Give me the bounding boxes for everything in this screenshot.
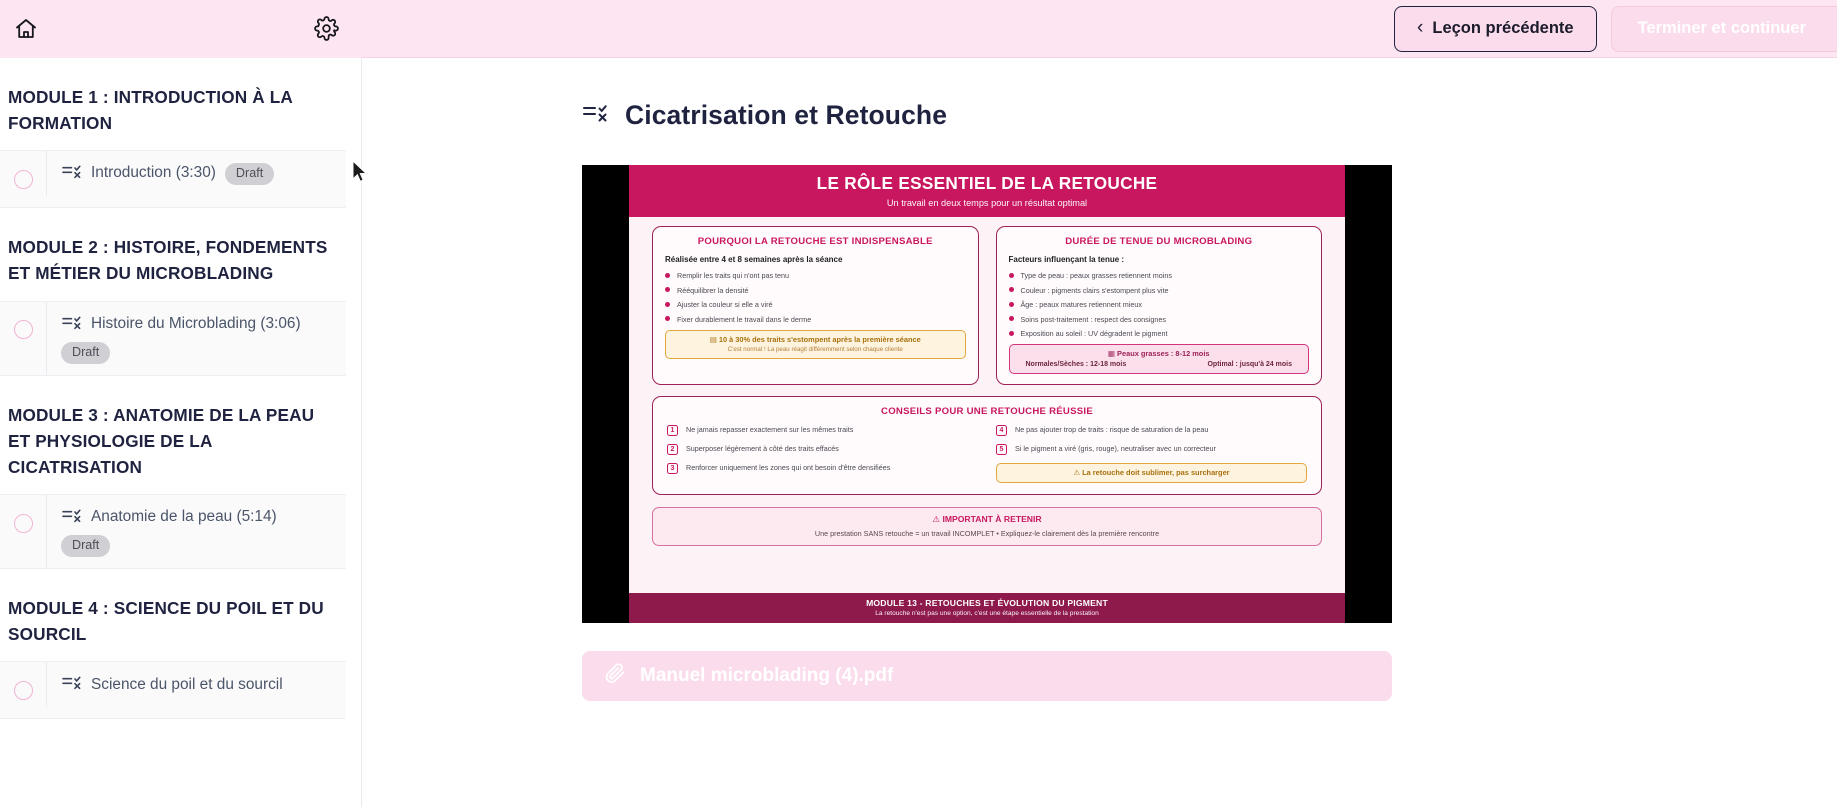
complete-and-continue-label: Terminer et continuer	[1638, 19, 1806, 38]
callout-fade-stat-line1: 10 à 30% des traits s'estompent après la…	[719, 335, 921, 344]
lesson-list-icon	[61, 507, 82, 529]
curriculum-sidebar: MODULE 1 : INTRODUCTION À LA FORMATIONIn…	[0, 58, 362, 807]
top-bar-left	[0, 0, 362, 58]
module-title: MODULE 2 : HISTOIRE, FONDEMENTS ET MÉTIE…	[0, 208, 346, 300]
circle-icon	[14, 681, 33, 700]
tip-item: 2Superposer légèrement à côté des traits…	[667, 444, 978, 455]
module-title: MODULE 1 : INTRODUCTION À LA FORMATION	[0, 58, 346, 150]
tip-number: 3	[667, 463, 678, 474]
callout-duration: ▦ Peaux grasses : 8-12 mois Normales/Sèc…	[1009, 344, 1310, 374]
card-duration-bullets: Type de peau : peaux grasses retiennent …	[1009, 271, 1310, 338]
tip-number: 2	[667, 444, 678, 455]
card-duration-subtitle: Facteurs influençant la tenue :	[1009, 255, 1310, 264]
tips-column-right: 4Ne pas ajouter trop de traits : risque …	[996, 425, 1307, 483]
circle-icon	[14, 514, 33, 533]
infographic-footer-line2: La retouche n'est pas une option, c'est …	[633, 610, 1341, 617]
callout-important-title: ⚠ IMPORTANT À RETENIR	[661, 514, 1313, 525]
callout-fade-stat-line2: C'est normal ! La peau réagit différemme…	[672, 346, 959, 353]
callout-tips-highlight-text: ⚠ La retouche doit sublimer, pas surchar…	[1003, 468, 1300, 477]
lesson-body: Science du poil et du sourcil	[46, 662, 346, 707]
tip-text: Superposer légèrement à côté des traits …	[686, 444, 839, 453]
previous-lesson-button[interactable]: ‹ Leçon précédente	[1394, 6, 1597, 52]
infographic-columns: POURQUOI LA RETOUCHE EST INDISPENSABLE R…	[652, 226, 1322, 385]
bullet-dot-icon	[1009, 302, 1014, 307]
callout-fade-stat: ▤ 10 à 30% des traits s'estompent après …	[665, 330, 966, 359]
bullet-item: Âge : peaux matures retiennent mieux	[1009, 300, 1310, 309]
tips-column-left: 1Ne jamais repasser exactement sur les m…	[667, 425, 978, 483]
tip-text: Si le pigment a viré (gris, rouge), neut…	[1015, 444, 1216, 453]
lesson-complete-toggle[interactable]	[0, 495, 46, 551]
tip-text: Ne jamais repasser exactement sur les mê…	[686, 425, 853, 434]
curriculum-list: MODULE 1 : INTRODUCTION À LA FORMATIONIn…	[0, 58, 346, 719]
infographic-header: LE RÔLE ESSENTIEL DE LA RETOUCHE Un trav…	[629, 165, 1345, 217]
lesson-label: Science du poil et du sourcil	[91, 675, 283, 696]
card-why-retouch-bullets: Remplir les traits qui n'ont pas tenuRéé…	[665, 271, 966, 324]
tip-text: Renforcer uniquement les zones qui ont b…	[686, 463, 890, 472]
infographic-title: LE RÔLE ESSENTIEL DE LA RETOUCHE	[633, 173, 1341, 194]
tip-item: 4Ne pas ajouter trop de traits : risque …	[996, 425, 1307, 436]
callout-important: ⚠ IMPORTANT À RETENIR Une prestation SAN…	[652, 507, 1322, 546]
attachment-label: Manuel microblading (4).pdf	[640, 665, 893, 687]
bullet-item: Couleur : pigments clairs s'estompent pl…	[1009, 286, 1310, 295]
chevron-left-icon: ‹	[1417, 18, 1423, 37]
lesson-header: Cicatrisation et Retouche	[363, 58, 1837, 131]
lesson-item[interactable]: Anatomie de la peau (5:14)Draft	[0, 494, 346, 569]
callout-tips-highlight: ⚠ La retouche doit sublimer, pas surchar…	[996, 463, 1307, 483]
bullet-dot-icon	[665, 302, 670, 307]
lesson-body: Anatomie de la peau (5:14)Draft	[46, 495, 346, 568]
lesson-video-player[interactable]: LE RÔLE ESSENTIEL DE LA RETOUCHE Un trav…	[582, 165, 1392, 623]
calendar-icon: ▦	[1108, 349, 1115, 358]
lesson-item[interactable]: Histoire du Microblading (3:06)Draft	[0, 301, 346, 376]
card-tips: CONSEILS POUR UNE RETOUCHE RÉUSSIE 1Ne j…	[652, 396, 1322, 495]
callout-duration-right: Optimal : jusqu'à 24 mois	[1207, 361, 1292, 368]
lesson-label: Histoire du Microblading (3:06)	[91, 314, 301, 335]
card-duration-title: DURÉE DE TENUE DU MICROBLADING	[1009, 236, 1310, 247]
settings-button[interactable]	[306, 9, 346, 49]
infographic-body: POURQUOI LA RETOUCHE EST INDISPENSABLE R…	[629, 217, 1345, 593]
stats-icon: ▤	[710, 335, 717, 344]
bullet-item: Ajuster la couleur si elle a viré	[665, 300, 966, 309]
lesson-complete-toggle[interactable]	[0, 662, 46, 718]
lesson-complete-toggle[interactable]	[0, 302, 46, 358]
paperclip-icon	[604, 662, 626, 690]
lesson-list-icon	[582, 102, 608, 129]
tips-grid: 1Ne jamais repasser exactement sur les m…	[667, 425, 1307, 483]
infographic-subtitle: Un travail en deux temps pour un résulta…	[633, 198, 1341, 208]
gear-icon	[314, 16, 339, 41]
status-badge: Draft	[61, 342, 110, 364]
tip-number: 4	[996, 425, 1007, 436]
callout-duration-line1: Peaux grasses : 8-12 mois	[1117, 349, 1209, 358]
lesson-label: Introduction (3:30)	[91, 163, 216, 184]
tip-item: 1Ne jamais repasser exactement sur les m…	[667, 425, 978, 436]
tip-number: 1	[667, 425, 678, 436]
bullet-item: Soins post-traitement : respect des cons…	[1009, 315, 1310, 324]
mouse-cursor	[352, 160, 368, 189]
module-title: MODULE 3 : ANATOMIE DE LA PEAU ET PHYSIO…	[0, 376, 346, 494]
bullet-dot-icon	[665, 273, 670, 278]
lesson-label: Anatomie de la peau (5:14)	[91, 507, 277, 528]
callout-duration-left: Normales/Sèches : 12-18 mois	[1026, 361, 1127, 368]
lesson-main-panel: Cicatrisation et Retouche LE RÔLE ESSENT…	[363, 58, 1837, 807]
lesson-item[interactable]: Science du poil et du sourcil	[0, 661, 346, 719]
card-tips-title: CONSEILS POUR UNE RETOUCHE RÉUSSIE	[667, 406, 1307, 417]
bullet-dot-icon	[1009, 287, 1014, 292]
bullet-item: Rééquilibrer la densité	[665, 286, 966, 295]
infographic: LE RÔLE ESSENTIEL DE LA RETOUCHE Un trav…	[629, 165, 1345, 623]
bullet-dot-icon	[1009, 273, 1014, 278]
callout-important-text: Une prestation SANS retouche = un travai…	[661, 529, 1313, 538]
bullet-dot-icon	[1009, 331, 1014, 336]
lesson-body: Introduction (3:30)Draft	[46, 151, 346, 196]
card-why-retouch: POURQUOI LA RETOUCHE EST INDISPENSABLE R…	[652, 226, 979, 385]
status-badge: Draft	[225, 163, 274, 185]
infographic-footer: MODULE 13 - RETOUCHES ET ÉVOLUTION DU PI…	[629, 593, 1345, 623]
tip-item: 5Si le pigment a viré (gris, rouge), neu…	[996, 444, 1307, 455]
bullet-item: Exposition au soleil : UV dégradent le p…	[1009, 329, 1310, 338]
bullet-item: Remplir les traits qui n'ont pas tenu	[665, 271, 966, 280]
home-icon	[14, 17, 38, 41]
bullet-item: Type de peau : peaux grasses retiennent …	[1009, 271, 1310, 280]
bullet-dot-icon	[1009, 316, 1014, 321]
page-title: Cicatrisation et Retouche	[625, 100, 947, 131]
top-bar: ‹ Leçon précédente Terminer et continuer	[0, 0, 1837, 58]
previous-lesson-label: Leçon précédente	[1432, 19, 1573, 38]
lesson-list-icon	[61, 674, 82, 696]
bullet-item: Fixer durablement le travail dans le der…	[665, 315, 966, 324]
lesson-list-icon	[61, 163, 82, 185]
card-why-retouch-title: POURQUOI LA RETOUCHE EST INDISPENSABLE	[665, 236, 966, 247]
circle-icon	[14, 320, 33, 339]
complete-and-continue-button[interactable]: Terminer et continuer	[1611, 6, 1837, 52]
lesson-complete-toggle[interactable]	[0, 151, 46, 207]
lesson-item[interactable]: Introduction (3:30)Draft	[0, 150, 346, 208]
tip-item: 3Renforcer uniquement les zones qui ont …	[667, 463, 978, 474]
bullet-dot-icon	[665, 316, 670, 321]
home-button[interactable]	[6, 9, 46, 49]
status-badge: Draft	[61, 535, 110, 557]
lesson-body: Histoire du Microblading (3:06)Draft	[46, 302, 346, 375]
card-why-retouch-subtitle: Réalisée entre 4 et 8 semaines après la …	[665, 255, 966, 264]
infographic-footer-line1: MODULE 13 - RETOUCHES ET ÉVOLUTION DU PI…	[633, 598, 1341, 608]
lesson-list-icon	[61, 314, 82, 336]
module-title: MODULE 4 : SCIENCE DU POIL ET DU SOURCIL	[0, 569, 346, 661]
bullet-dot-icon	[665, 287, 670, 292]
circle-icon	[14, 170, 33, 189]
attachment-link[interactable]: Manuel microblading (4).pdf	[582, 651, 1392, 701]
card-duration: DURÉE DE TENUE DU MICROBLADING Facteurs …	[996, 226, 1323, 385]
tip-text: Ne pas ajouter trop de traits : risque d…	[1015, 425, 1208, 434]
top-bar-right: ‹ Leçon précédente Terminer et continuer	[362, 0, 1837, 58]
tip-number: 5	[996, 444, 1007, 455]
